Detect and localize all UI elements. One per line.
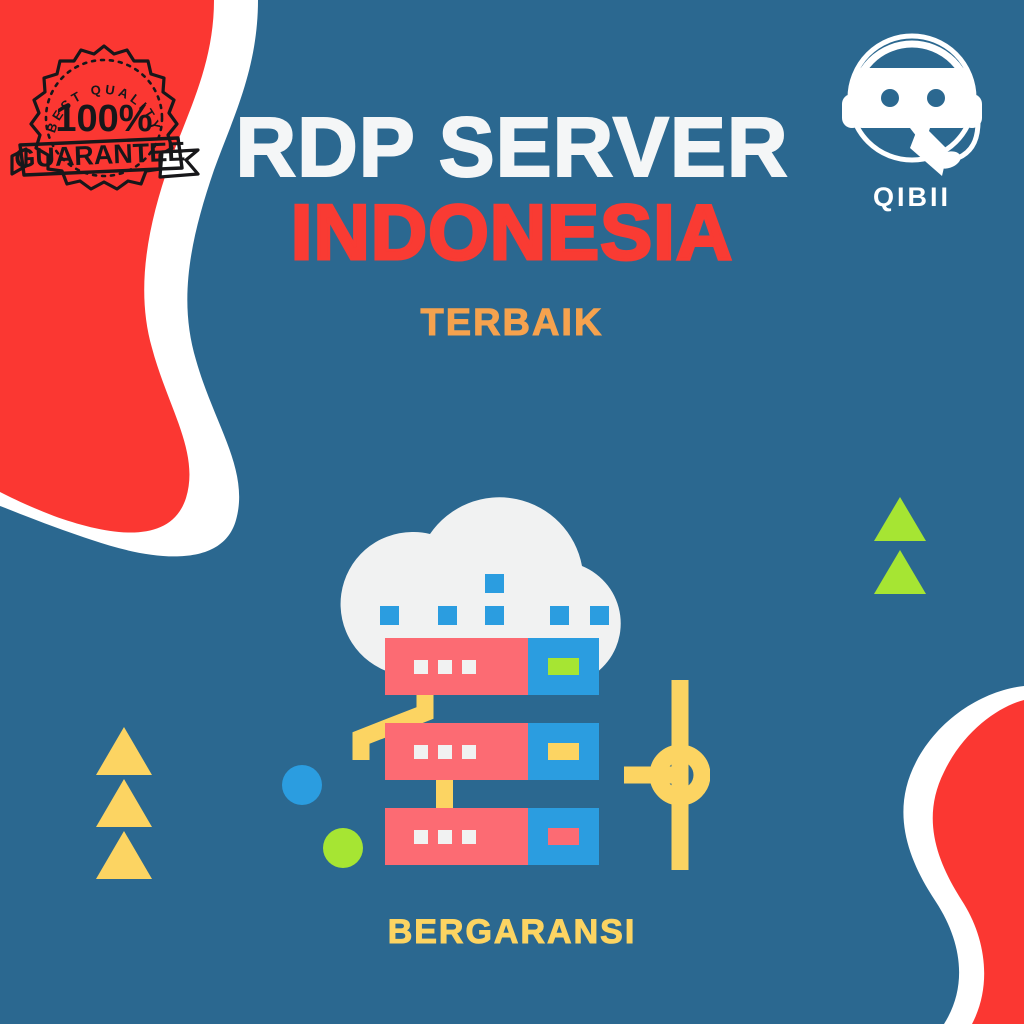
cloud-dot-1 — [380, 606, 399, 625]
cloud-dot-top — [485, 574, 504, 593]
cloud-dot-2 — [438, 606, 457, 625]
server-led-3 — [548, 828, 579, 845]
server-unit-1 — [385, 638, 599, 695]
decor-triangle-green-2 — [874, 550, 926, 594]
server-led-1 — [548, 658, 579, 675]
title-line-primary: RDP SERVER — [0, 104, 1024, 190]
headline-block: RDP SERVER INDONESIA TERBAIK — [0, 104, 1024, 345]
decor-triangle-green-1 — [874, 497, 926, 541]
cloud-server-rack-illustration — [280, 458, 710, 888]
cloud-dot-5 — [590, 606, 609, 625]
decor-triangle-yellow-3 — [96, 831, 152, 879]
cloud-dot-4 — [550, 606, 569, 625]
decor-triangle-yellow-1 — [96, 727, 152, 775]
circuit-node-green — [323, 828, 363, 868]
server-unit-2 — [385, 723, 599, 780]
title-tagline: TERBAIK — [0, 302, 1024, 345]
cloud-dot-3 — [485, 606, 504, 625]
decor-triangle-yellow-2 — [96, 779, 152, 827]
server-unit-3 — [385, 808, 599, 865]
footer-guarantee-text: BERGARANSI — [0, 913, 1024, 952]
title-line-secondary: INDONESIA — [0, 190, 1024, 274]
circuit-node-blue — [282, 765, 322, 805]
server-led-2 — [548, 743, 579, 760]
promo-poster: BEST QUALITY 100% GUARANTEE QI — [0, 0, 1024, 1024]
